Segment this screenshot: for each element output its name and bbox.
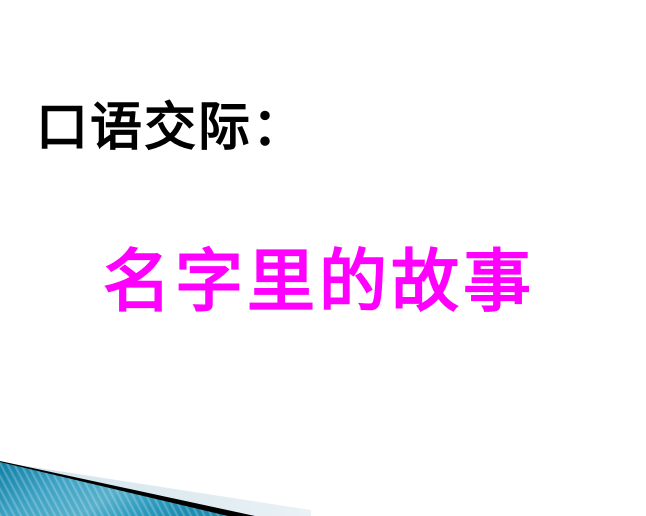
- corner-decoration: [0, 440, 646, 516]
- pale-band-shape: [0, 462, 311, 516]
- teal-texture-overlay: [0, 462, 228, 516]
- black-stripe-shape: [0, 461, 255, 516]
- slide-heading: 口语交际：: [36, 98, 306, 158]
- teal-triangle-shape: [0, 462, 228, 516]
- presentation-slide: 口语交际： 名字里的故事: [0, 0, 646, 516]
- slide-main-title: 名字里的故事: [103, 245, 535, 320]
- corner-decoration-shapes: [0, 440, 646, 516]
